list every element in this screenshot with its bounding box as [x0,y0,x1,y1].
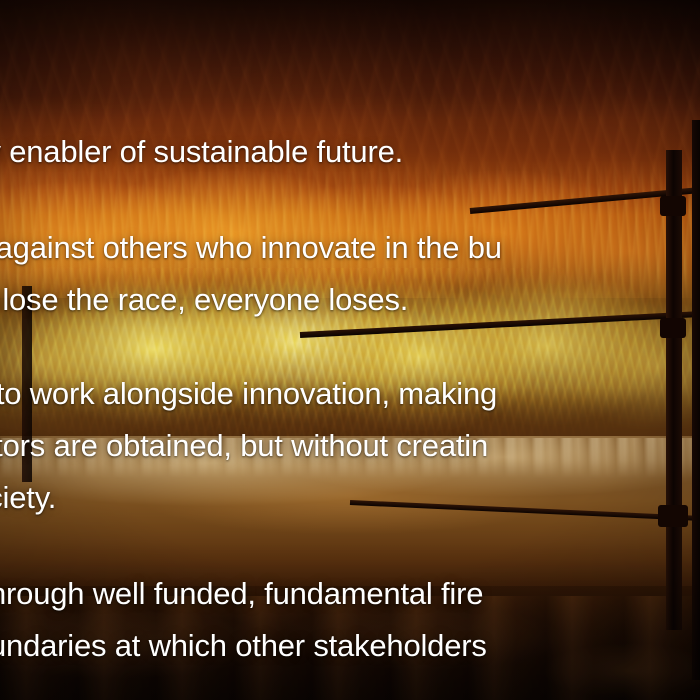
slide-text-layer: s a key enabler of sustainable future. r… [0,0,700,700]
text-line: the boundaries at which other stakeholde… [0,620,700,672]
text-line: done through well funded, fundamental fi… [0,568,700,620]
text-line: innovators are obtained, but without cre… [0,420,700,472]
slide-canvas: s a key enabler of sustainable future. r… [0,0,700,700]
text-line: racing against others who innovate in th… [0,222,700,274]
slide-paragraph-2: racing against others who innovate in th… [0,222,700,326]
slide-paragraph-1: s a key enabler of sustainable future. [0,126,700,178]
slide-paragraph-4: done through well funded, fundamental fi… [0,568,700,672]
text-line: ? If we lose the race, everyone loses. [0,274,700,326]
text-line: needs to work alongside innovation, maki… [0,368,700,420]
text-line: s a key enabler of sustainable future. [0,126,700,178]
text-line: the society. [0,472,700,524]
slide-paragraph-3: needs to work alongside innovation, maki… [0,368,700,524]
